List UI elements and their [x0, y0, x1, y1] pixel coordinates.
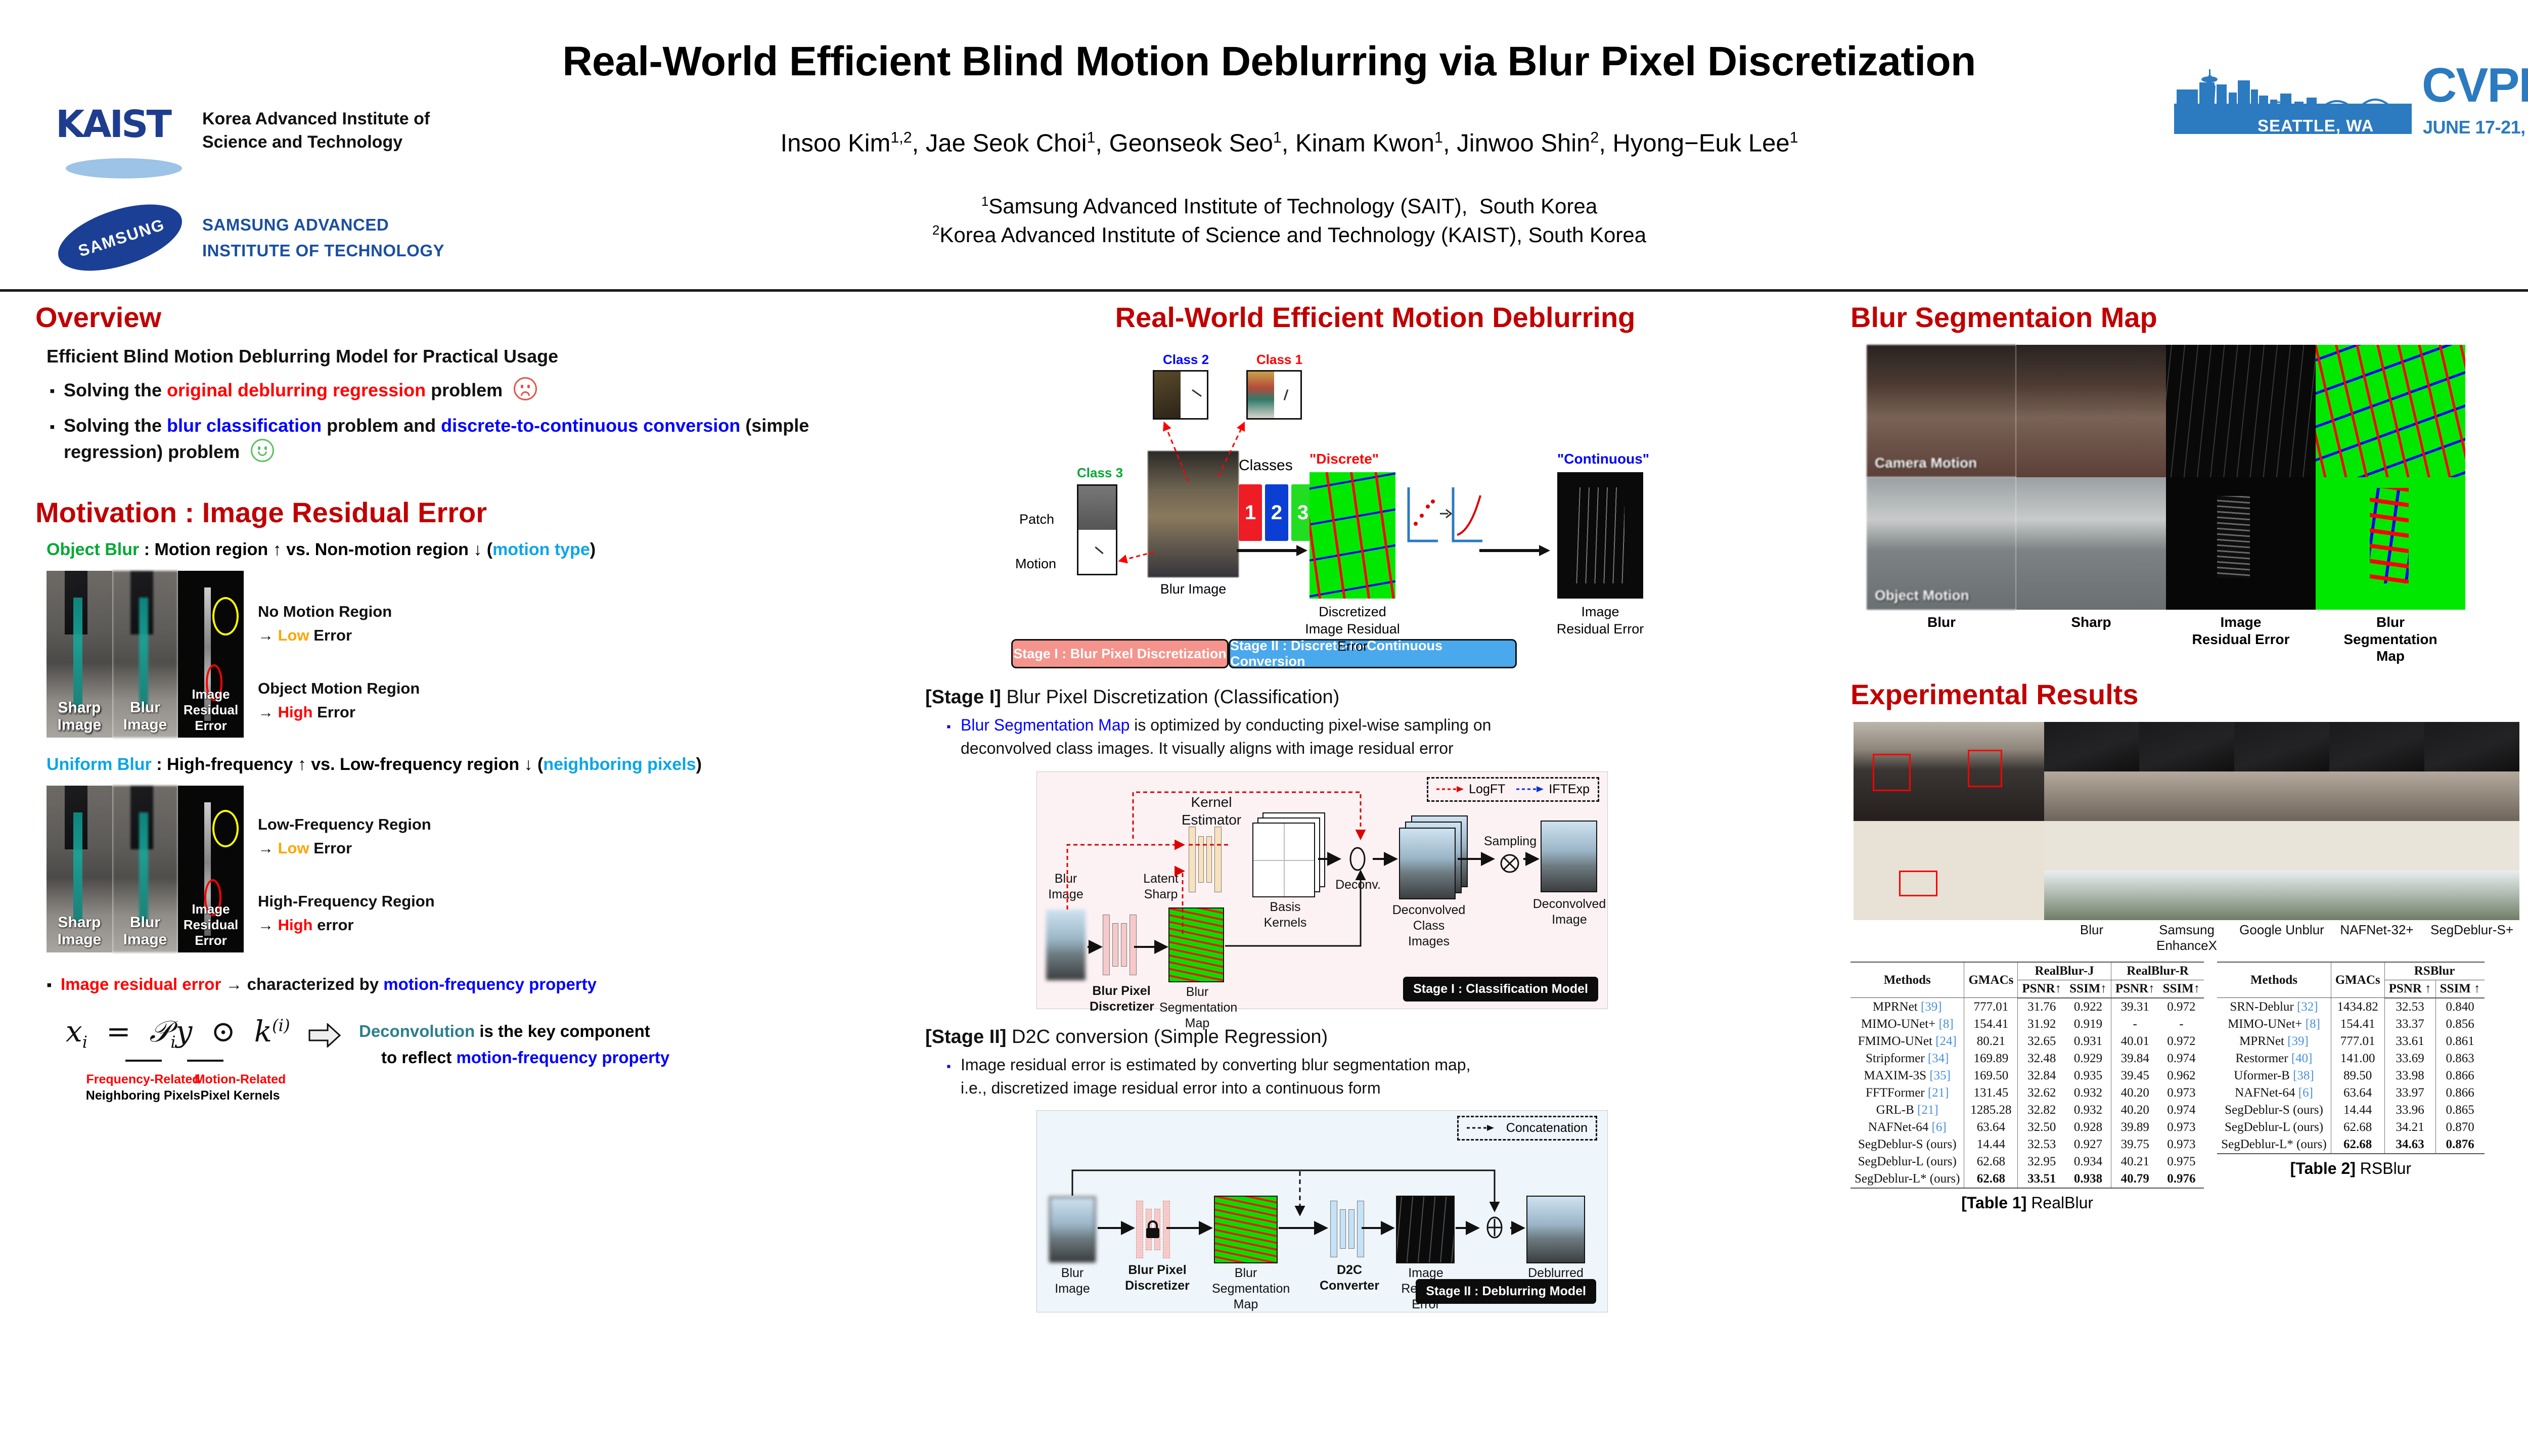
t1-gmacs: 131.45	[1964, 1084, 2018, 1102]
t1-j-ssim: 0.919	[2065, 1016, 2111, 1033]
arrow-right-icon	[1237, 543, 1307, 558]
eqc-d: motion-frequency property	[457, 1048, 670, 1067]
object-blur-paren: motion type	[492, 540, 590, 559]
poster-canvas: KAIST Korea Advanced Institute of Scienc…	[0, 0, 2528, 1456]
t2-gmacs: 63.64	[2331, 1084, 2384, 1102]
pipeline-overview-diagram: Class 2 Class 1 Class 3 Patch Motion Blu…	[925, 345, 1825, 628]
segmap-object-residual	[2166, 477, 2316, 610]
segmap-row-camera-motion: Camera Motion	[1867, 345, 2528, 477]
t2-gmacs: 14.44	[2331, 1102, 2384, 1119]
table1-head: Methods GMACs RealBlur-J RealBlur-R PSNR…	[1850, 962, 2204, 998]
class2-label: Class 2	[1163, 352, 1209, 368]
ob2-c: problem and	[322, 415, 441, 436]
overview-heading: Overview	[35, 301, 905, 334]
t1-method: Stripformer [34]	[1850, 1050, 1964, 1067]
qual-scene-2	[1854, 821, 2044, 920]
panel1-annotation-top: No Motion Region → Low Error	[258, 600, 392, 647]
t2-method: NAFNet-64 [6]	[2217, 1084, 2331, 1102]
panel1-label-blur: Blur Image	[112, 699, 178, 734]
blur-image-caption: Blur Image	[1148, 581, 1239, 597]
ob2-d: discrete-to-continuous conversion	[441, 415, 740, 436]
t2-method: Uformer-B [38]	[2217, 1067, 2331, 1084]
class1-label: Class 1	[1256, 352, 1302, 368]
eq-right-black: Pixel Kernels	[182, 1088, 298, 1104]
overview-bullet-1-text: Solving the original deblurring regressi…	[64, 377, 537, 403]
t1-gmacs: 14.44	[1964, 1136, 2018, 1153]
discrete-to-continuous-plot-icon	[1405, 484, 1485, 550]
qual-4-enhancex	[2139, 871, 2234, 920]
table-row: SegDeblur-L (ours)62.6834.210.870	[2217, 1119, 2484, 1136]
motivation-heading: Motivation : Image Residual Error	[35, 496, 905, 529]
t1-r-ssim: 0.973	[2159, 1136, 2204, 1153]
equation-conclusion: Deconvolution is the key component to re…	[359, 1018, 669, 1070]
cvpr-logo: SEATTLE, WA CVPR JUNE 17-21, 2024	[2174, 28, 2528, 144]
cvpr-city-label: SEATTLE, WA	[2258, 116, 2374, 135]
panel1-label-sharp: Sharp Image	[47, 699, 112, 734]
t1-j-ssim: 0.932	[2065, 1084, 2111, 1102]
qual-row-4	[2044, 871, 2528, 920]
middle-heading: Real-World Efficient Motion Deblurring	[925, 301, 1825, 334]
t1-gmacs: 169.89	[1964, 1050, 2018, 1067]
qual-crop-box-b	[1968, 750, 2002, 787]
t2-gmacs: 1434.82	[2331, 998, 2384, 1016]
qual-4-segdeblur	[2424, 871, 2519, 920]
segmap-caption-blur: Blur	[1867, 614, 2016, 665]
t1-sh-rssim: SSIM↑	[2159, 980, 2204, 998]
affiliation-1: 1Samsung Advanced Institute of Technolog…	[556, 192, 2022, 221]
t2-method: SRN-Deblur [32]	[2217, 998, 2331, 1016]
discretized-caption-l1: Discretized	[1289, 604, 1416, 621]
t2-ssim: 0.861	[2435, 1033, 2484, 1050]
table-row: SegDeblur-S (ours)14.4433.960.865	[2217, 1102, 2484, 1119]
t2-h-methods: Methods	[2217, 962, 2331, 998]
table2-rsblur: Methods GMACs RSBlur PSNR ↑ SSIM ↑ SRN-D…	[2217, 962, 2484, 1154]
table-row: MPRNet [39]777.0133.610.861	[2217, 1033, 2484, 1050]
discretized-caption: Discretized Image Residual Error	[1289, 604, 1416, 655]
t1-j-ssim: 0.927	[2065, 1136, 2111, 1153]
qual-4-unblur	[2234, 871, 2329, 920]
equation-label-right: Motion-Related Pixel Kernels	[182, 1072, 298, 1104]
eqc-b: is the key component	[475, 1022, 650, 1040]
qual-3-unblur	[2234, 821, 2329, 871]
residual-error-bullet: Image residual error → characterized by …	[47, 973, 905, 996]
qual-label-unblur: Google Unblur	[2234, 922, 2329, 953]
bullet-square-icon	[946, 713, 961, 760]
motivation-panel-2: Sharp Image Blur Image Image Residual Er…	[35, 786, 905, 952]
table-row: Uformer-B [38]89.5033.980.866	[2217, 1067, 2484, 1084]
stage2-model-badge: Stage II : Deblurring Model	[1416, 1279, 1596, 1304]
panel1-annotation-bottom: Object Motion Region → High Error	[258, 677, 420, 724]
t2-method: MPRNet [39]	[2217, 1033, 2331, 1050]
t1-j-psnr: 31.92	[2018, 1016, 2065, 1033]
qual-3-segdeblur	[2424, 821, 2519, 871]
table-row: MIMO-UNet+ [8]154.4131.920.919--	[1850, 1016, 2204, 1033]
panel1-yellow-ellipse-marker	[212, 597, 239, 635]
qual-label-nafnet: NAFNet-32+	[2329, 922, 2424, 953]
stage1-connection-wires	[1037, 772, 1608, 1010]
segmap-camera-map	[2316, 345, 2465, 477]
t2-gmacs: 154.41	[2331, 1016, 2384, 1033]
t1-gmacs: 63.64	[1964, 1119, 2018, 1136]
class-link-arrows-icon	[1138, 405, 1310, 486]
class3-thumb	[1077, 484, 1117, 575]
class-chip-1: 1	[1239, 484, 1262, 541]
classes-label: Classes	[1239, 457, 1293, 474]
t1-r-ssim: 0.975	[2159, 1153, 2204, 1170]
overview-body: Efficient Blind Motion Deblurring Model …	[47, 346, 905, 465]
continuous-caption-l2: Residual Error	[1540, 621, 1661, 638]
ob2-b: blur classification	[167, 415, 322, 436]
segmap-caption-map: BlurSegmentationMap	[2316, 614, 2465, 665]
table2-body: SRN-Deblur [32]1434.8232.530.840MIMO-UNe…	[2217, 998, 2484, 1154]
object-blur-label: Object Blur	[47, 540, 139, 559]
bullet-square-icon	[50, 377, 64, 403]
t1-r-psnr: 40.79	[2111, 1170, 2158, 1188]
table-row: FMIMO-UNet [24]80.2132.650.93140.010.972	[1850, 1033, 2204, 1050]
t1-h-realblurj: RealBlur-J	[2018, 962, 2111, 980]
t2-gmacs: 62.68	[2331, 1136, 2384, 1154]
qual-2-blur	[2044, 771, 2139, 821]
t2-psnr: 33.96	[2384, 1102, 2435, 1119]
t2-psnr: 34.63	[2384, 1136, 2435, 1154]
table-row: FFTFormer [21]131.4532.620.93240.200.973	[1850, 1084, 2204, 1102]
qual-2-segdeblur	[2424, 771, 2519, 821]
stage1-model-badge: Stage I : Classification Model	[1403, 977, 1598, 1002]
t2-psnr: 33.37	[2384, 1016, 2435, 1033]
t1-gmacs: 80.21	[1964, 1033, 2018, 1050]
t1-method: FFTFormer [21]	[1850, 1084, 1964, 1102]
t1-gmacs: 62.68	[1964, 1153, 2018, 1170]
t2-sh-psnr: PSNR ↑	[2384, 980, 2435, 998]
t1-sh-jssim: SSIM↑	[2065, 980, 2111, 998]
segmap-caption-residual: ImageResidual Error	[2166, 614, 2316, 665]
table-row: SegDeblur-L* (ours)62.6834.630.876	[2217, 1136, 2484, 1154]
qual-3-blur	[2044, 821, 2139, 871]
object-blur-text: : Motion region ↑ vs. Non-motion region …	[139, 540, 492, 559]
t1-cap-rest: RealBlur	[2026, 1194, 2093, 1212]
arrow-right-icon	[1479, 543, 1550, 558]
table-row: SegDeblur-S (ours)14.4432.530.92739.750.…	[1850, 1136, 2204, 1153]
kaist-wordmark: KAIST	[56, 104, 187, 159]
qual-4-blur	[2044, 871, 2139, 920]
t1-r-ssim: 0.962	[2159, 1067, 2204, 1084]
t2-gmacs: 777.01	[2331, 1033, 2384, 1050]
t1-r-ssim: 0.972	[2159, 998, 2204, 1016]
qual-label-segdeblur: SegDeblur-S+	[2424, 922, 2519, 953]
table-row: SegDeblur-L (ours)62.6832.950.93440.210.…	[1850, 1153, 2204, 1170]
class-chip-2: 2	[1265, 484, 1288, 541]
qual-2-nafnet	[2329, 771, 2424, 821]
panel1-annot-top-title: No Motion Region	[258, 600, 392, 624]
qual-3-nafnet	[2329, 821, 2424, 871]
samsung-logo: SAMSUNG SAMSUNG ADVANCED INSTITUTE OF TE…	[56, 205, 586, 276]
t1-r-psnr: 40.20	[2111, 1102, 2158, 1119]
object-motion-overlay-label: Object Motion	[1875, 587, 1969, 604]
t1-j-psnr: 32.84	[2018, 1067, 2065, 1084]
t2-psnr: 34.21	[2384, 1119, 2435, 1136]
t2-ssim: 0.865	[2435, 1102, 2484, 1119]
t1-method: SegDeblur-L* (ours)	[1850, 1170, 1964, 1188]
t2-cap-bold: [Table 2]	[2290, 1159, 2356, 1177]
stage1-heading-bold: [Stage I]	[925, 687, 1001, 708]
qual-1-segdeblur	[2424, 722, 2519, 771]
cvpr-date-label: JUNE 17-21, 2024	[2423, 117, 2528, 138]
qual-row-2	[2044, 771, 2528, 821]
t1-cap-bold: [Table 1]	[1961, 1194, 2026, 1212]
table-row: MPRNet [39]777.0131.760.92239.310.972	[1850, 998, 2204, 1016]
table-row: NAFNet-64 [6]63.6432.500.92839.890.973	[1850, 1119, 2204, 1136]
segmap-caption-sharp: Sharp	[2016, 614, 2166, 665]
t2-psnr: 33.69	[2384, 1050, 2435, 1067]
panel1-annot-bot-arrow: →	[258, 703, 278, 721]
stage1-architecture-diagram: LogFT IFTExp Blur Image Blu	[1036, 771, 1608, 1009]
t1-r-psnr: -	[2111, 1016, 2158, 1033]
t2-ssim: 0.876	[2435, 1136, 2484, 1154]
table2-header-row: Methods GMACs RSBlur	[2217, 962, 2484, 980]
stage2-bullet-text: Image residual error is estimated by con…	[961, 1053, 1470, 1100]
qualitative-results-grid: Blur Samsung EnhanceX Google Unblur NAFN…	[1854, 722, 2528, 953]
affiliation-list: 1Samsung Advanced Institute of Technolog…	[556, 192, 2022, 249]
qual-label-blur: Blur	[2044, 922, 2139, 953]
t2-ssim: 0.870	[2435, 1119, 2484, 1136]
t1-r-psnr: 39.31	[2111, 998, 2158, 1016]
residual-equation: xi = 𝒫iy ⊙ k(i)	[66, 1014, 290, 1052]
continuous-residual-thumb	[1557, 472, 1643, 599]
t1-r-ssim: -	[2159, 1016, 2204, 1033]
t1-r-ssim: 0.973	[2159, 1119, 2204, 1136]
table-row: MIMO-UNet+ [8]154.4133.370.856	[2217, 1016, 2484, 1033]
header-divider	[0, 289, 2528, 292]
stage1-bullet: Blur Segmentation Map is optimized by co…	[946, 713, 1825, 760]
uniform-blur-close: )	[696, 755, 702, 774]
reb-c: motion-frequency property	[383, 975, 597, 993]
t1-method: MAXIM-3S [35]	[1850, 1067, 1964, 1084]
panel2-annotation-top: Low-Frequency Region → Low Error	[258, 813, 431, 860]
ob1-a: Solving the	[64, 380, 167, 400]
t1-r-psnr: 39.89	[2111, 1119, 2158, 1136]
table2-caption: [Table 2] RSBlur	[2217, 1159, 2484, 1178]
table-row: SRN-Deblur [32]1434.8232.530.840	[2217, 998, 2484, 1016]
t1-j-ssim: 0.934	[2065, 1153, 2111, 1170]
panel1-annot-bot-title: Object Motion Region	[258, 677, 420, 701]
reb-a: Image residual error	[61, 975, 221, 993]
segmap-camera-sharp	[2016, 345, 2166, 477]
table-row: Stripformer [34]169.8932.480.92939.840.9…	[1850, 1050, 2204, 1067]
patch-label: Patch	[1019, 512, 1054, 527]
t1-j-ssim: 0.932	[2065, 1102, 2111, 1119]
table2-wrapper: Methods GMACs RSBlur PSNR ↑ SSIM ↑ SRN-D…	[2217, 962, 2484, 1212]
t2-ssim: 0.863	[2435, 1050, 2484, 1067]
panel2-annot-top-title: Low-Frequency Region	[258, 813, 431, 837]
segmap-camera-residual	[2166, 345, 2316, 477]
panel2-label-sharp: Sharp Image	[47, 914, 112, 948]
poster-header: KAIST Korea Advanced Institute of Scienc…	[0, 0, 2528, 291]
stage2-architecture-diagram: Concatenation Blur Image Blur Pixel Disc…	[1036, 1110, 1608, 1312]
t2-psnr: 32.53	[2384, 998, 2435, 1016]
column-middle: Real-World Efficient Motion Deblurring C…	[925, 301, 1825, 1312]
t2-psnr: 33.61	[2384, 1033, 2435, 1050]
panel1-annot-bot-tail: Error	[313, 703, 355, 721]
object-blur-close: )	[590, 540, 596, 559]
t1-j-ssim: 0.935	[2065, 1067, 2111, 1084]
t1-method: MIMO-UNet+ [8]	[1850, 1016, 1964, 1033]
qual-crop-box-c	[1899, 871, 1937, 896]
overview-bullet-2-text: Solving the blur classification problem …	[64, 413, 852, 465]
panel1-annot-top-tail: Error	[309, 626, 352, 644]
kaist-logo: KAIST Korea Advanced Institute of Scienc…	[56, 104, 561, 179]
t1-j-psnr: 33.51	[2018, 1170, 2065, 1188]
t1-method: FMIMO-UNet [24]	[1850, 1033, 1964, 1050]
ob2-a: Solving the	[64, 415, 167, 436]
eqc-a: Deconvolution	[359, 1022, 475, 1040]
t2-method: SegDeblur-S (ours)	[2217, 1102, 2331, 1119]
t1-j-psnr: 32.53	[2018, 1136, 2065, 1153]
segmap-object-blur: Object Motion	[1867, 477, 2016, 610]
qual-crop-box-a	[1873, 754, 1911, 791]
panel2-annot-bot-title: High-Frequency Region	[258, 890, 435, 914]
kaist-subtitle: Korea Advanced Institute of Science and …	[202, 108, 430, 154]
t1-method: SegDeblur-S (ours)	[1850, 1136, 1964, 1153]
t2-gmacs: 89.50	[2331, 1067, 2384, 1084]
qual-1-blur	[2044, 722, 2139, 771]
discretized-residual-thumb	[1310, 472, 1395, 599]
qual-1-enhancex	[2139, 722, 2234, 771]
t1-r-ssim: 0.974	[2159, 1102, 2204, 1119]
affiliation-2: 2Korea Advanced Institute of Science and…	[556, 221, 2022, 250]
t1-gmacs: 169.50	[1964, 1067, 2018, 1084]
stage1-bar: Stage I : Blur Pixel Discretization	[1011, 639, 1229, 668]
eqc-c: to reflect	[381, 1048, 457, 1067]
samsung-subtitle: SAMSUNG ADVANCED INSTITUTE OF TECHNOLOGY	[202, 212, 444, 263]
kaist-swoosh-shape	[66, 158, 182, 178]
table1-caption: [Table 1] RealBlur	[1850, 1194, 2204, 1212]
t1-r-ssim: 0.974	[2159, 1050, 2204, 1067]
class-chip-group: 1 2 3	[1239, 484, 1315, 541]
t2-method: SegDeblur-L* (ours)	[2217, 1136, 2331, 1154]
t1-sh-jpsnr: PSNR↑	[2018, 980, 2065, 998]
t1-gmacs: 777.01	[1964, 998, 2018, 1016]
overview-bullet-2: Solving the blur classification problem …	[50, 413, 905, 465]
kaist-subtitle-line2: Science and Technology	[202, 131, 430, 154]
segmap-heading: Blur Segmentaion Map	[1850, 301, 2528, 334]
table1-realblur: Methods GMACs RealBlur-J RealBlur-R PSNR…	[1850, 962, 2204, 1189]
t1-j-psnr: 32.48	[2018, 1050, 2065, 1067]
t1-j-psnr: 32.95	[2018, 1153, 2065, 1170]
panel1-annot-top-em: Low	[278, 626, 309, 644]
sad-face-icon	[514, 377, 537, 400]
panel2-label-residual: Image Residual Error	[178, 901, 244, 948]
experiments-heading: Experimental Results	[1850, 678, 2528, 711]
bullet-square-icon	[47, 973, 61, 996]
t1-h-methods: Methods	[1850, 962, 1964, 998]
t1-r-psnr: 40.21	[2111, 1153, 2158, 1170]
t1-method: SegDeblur-L (ours)	[1850, 1153, 1964, 1170]
segmap-object-sharp	[2016, 477, 2166, 610]
continuous-label: "Continuous"	[1557, 451, 1649, 467]
column-right: Blur Segmentaion Map Camera Motion Objec…	[1850, 301, 2528, 1212]
t2-method: MIMO-UNet+ [8]	[2217, 1016, 2331, 1033]
table2-head: Methods GMACs RSBlur PSNR ↑ SSIM ↑	[2217, 962, 2484, 998]
t2-ssim: 0.866	[2435, 1084, 2484, 1102]
equation-underline-right	[187, 1060, 223, 1062]
discrete-label: "Discrete"	[1310, 451, 1379, 467]
qual-label-enhancex: Samsung EnhanceX	[2139, 922, 2234, 953]
bullet-square-icon	[50, 413, 64, 465]
t1-j-ssim: 0.922	[2065, 998, 2111, 1016]
t2-h-gmacs: GMACs	[2331, 962, 2384, 998]
t1-j-psnr: 32.62	[2018, 1084, 2065, 1102]
segmap-object-map	[2316, 477, 2465, 610]
t2-psnr: 33.97	[2384, 1084, 2435, 1102]
stage1-heading: [Stage I] Blur Pixel Discretization (Cla…	[925, 687, 1825, 708]
s1-seg-l2: Map	[1159, 1016, 1235, 1031]
discretized-caption-l2: Image Residual Error	[1289, 621, 1416, 655]
ob1-b: original deblurring regression	[167, 380, 426, 400]
t1-r-psnr: 39.75	[2111, 1136, 2158, 1153]
overview-bullet-1: Solving the original deblurring regressi…	[50, 377, 905, 403]
uniform-blur-line: Uniform Blur : High-frequency ↑ vs. Low-…	[47, 755, 905, 775]
qual-1-unblur	[2234, 722, 2329, 771]
qual-1-nafnet	[2329, 722, 2424, 771]
ob1-c: problem	[426, 380, 503, 400]
t1-j-ssim: 0.931	[2065, 1033, 2111, 1050]
t2-method: SegDeblur-L (ours)	[2217, 1119, 2331, 1136]
qual-method-labels: Blur Samsung EnhanceX Google Unblur NAFN…	[2044, 922, 2528, 953]
t1-sh-rpsnr: PSNR↑	[2111, 980, 2158, 998]
implies-arrow-icon	[308, 1023, 341, 1048]
table-row: MAXIM-3S [35]169.5032.840.93539.450.962	[1850, 1067, 2204, 1084]
t1-r-psnr: 40.01	[2111, 1033, 2158, 1050]
t2-psnr: 33.98	[2384, 1067, 2435, 1084]
table-row: GRL-B [21]1285.2832.820.93240.200.974	[1850, 1102, 2204, 1119]
t1-r-psnr: 40.20	[2111, 1084, 2158, 1102]
stage1-bullet-text: Blur Segmentation Map is optimized by co…	[961, 713, 1491, 760]
t2-ssim: 0.856	[2435, 1016, 2484, 1033]
samsung-subtitle-line2: INSTITUTE OF TECHNOLOGY	[202, 238, 444, 263]
s2b-l2: i.e., discretized image residual error i…	[961, 1079, 1381, 1097]
table-row: NAFNet-64 [6]63.6433.970.866	[2217, 1084, 2484, 1102]
stage-bar-group: Stage I : Blur Pixel Discretization Stag…	[1011, 639, 1517, 668]
author-list: Insoo Kim1,2, Jae Seok Choi1, Geonseok S…	[556, 129, 2022, 157]
qual-3-enhancex	[2139, 821, 2234, 871]
equation-underline-left	[125, 1060, 162, 1062]
column-left: Overview Efficient Blind Motion Deblurri…	[35, 301, 905, 1127]
table-row: Restormer [40]141.0033.690.863	[2217, 1050, 2484, 1067]
poster-title: Real-World Efficient Blind Motion Deblur…	[384, 38, 2154, 85]
panel2-annot-bot-arrow: →	[258, 916, 278, 934]
uniform-blur-paren: neighboring pixels	[543, 755, 696, 774]
motion-label: Motion	[1015, 556, 1056, 572]
uniform-blur-label: Uniform Blur	[47, 755, 152, 774]
t2-h-rsblur: RSBlur	[2384, 962, 2484, 980]
kaist-subtitle-line1: Korea Advanced Institute of	[202, 108, 430, 131]
bullet-square-icon	[946, 1053, 961, 1100]
qual-2-unblur	[2234, 771, 2329, 821]
t1-r-ssim: 0.973	[2159, 1084, 2204, 1102]
table1-wrapper: Methods GMACs RealBlur-J RealBlur-R PSNR…	[1850, 962, 2204, 1212]
t2-method: Restormer [40]	[2217, 1050, 2331, 1067]
panel2-label-blur: Blur Image	[112, 914, 178, 948]
panel1-annot-bot-em: High	[278, 703, 313, 721]
t1-j-psnr: 32.65	[2018, 1033, 2065, 1050]
equation-block: xi = 𝒫iy ⊙ k(i) Frequency-Related Neighb…	[35, 1011, 905, 1127]
qual-4-nafnet	[2329, 871, 2424, 920]
segmap-column-captions: Blur Sharp ImageResidual Error BlurSegme…	[1867, 614, 2528, 665]
panel2-annotation-bottom: High-Frequency Region → High error	[258, 890, 435, 937]
t1-gmacs: 1285.28	[1964, 1102, 2018, 1119]
s1b-blue: Blur Segmentation Map	[961, 716, 1130, 734]
t1-j-ssim: 0.938	[2065, 1170, 2111, 1188]
